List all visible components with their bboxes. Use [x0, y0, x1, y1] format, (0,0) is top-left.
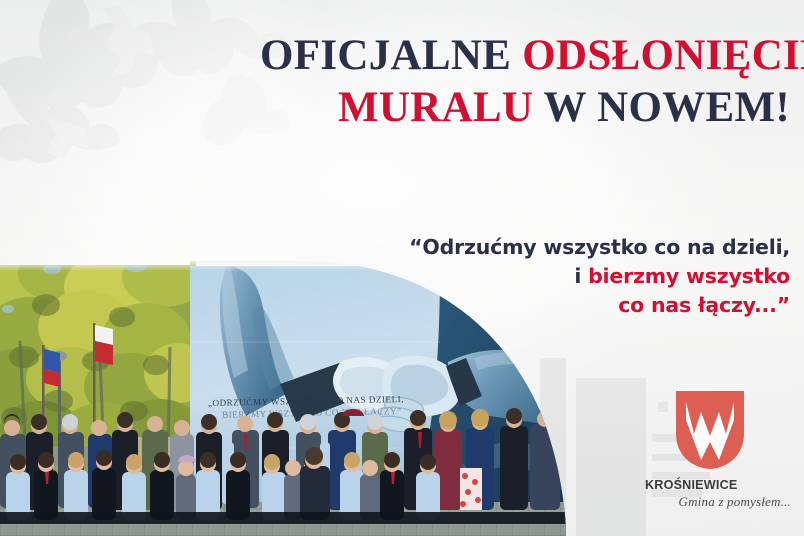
logo-tagline: Gmina z pomysłem...: [645, 494, 795, 510]
headline-line1-part1: OFICJALNE: [260, 32, 522, 79]
headline-line1-part2: ODSŁONIĘCIE: [522, 32, 804, 79]
municipality-logo: KROŚNIEWICE Gmina z pomysłem...: [645, 390, 795, 514]
poster-headline: OFICJALNE ODSŁONIĘCIE MURALU W NOWEM!: [260, 30, 790, 134]
quote-line-1: “Odrzućmy wszystko co na dzieli,: [330, 233, 790, 262]
headline-line-1: OFICJALNE ODSŁONIĘCIE: [260, 30, 790, 82]
headline-line2-part2: W NOWEM!: [533, 84, 790, 131]
photo-crowd-of-people: [0, 408, 570, 536]
logo-municipality-name: KROŚNIEWICE: [645, 478, 795, 492]
poster-quote: “Odrzućmy wszystko co na dzieli, i bierz…: [330, 233, 790, 320]
headline-line-2: MURALU W NOWEM!: [260, 82, 790, 134]
shield-w-crest-icon: [675, 390, 745, 470]
headline-line2-part1: MURALU: [338, 84, 533, 131]
quote-line2-prefix: i: [574, 264, 588, 288]
poster-canvas: OFICJALNE ODSŁONIĘCIE MURALU W NOWEM!: [0, 0, 804, 536]
quote-line2-red: bierzmy wszystko: [588, 264, 790, 288]
quote-line-2: i bierzmy wszystko: [330, 262, 790, 291]
quote-line-3: co nas łączy...”: [330, 291, 790, 320]
